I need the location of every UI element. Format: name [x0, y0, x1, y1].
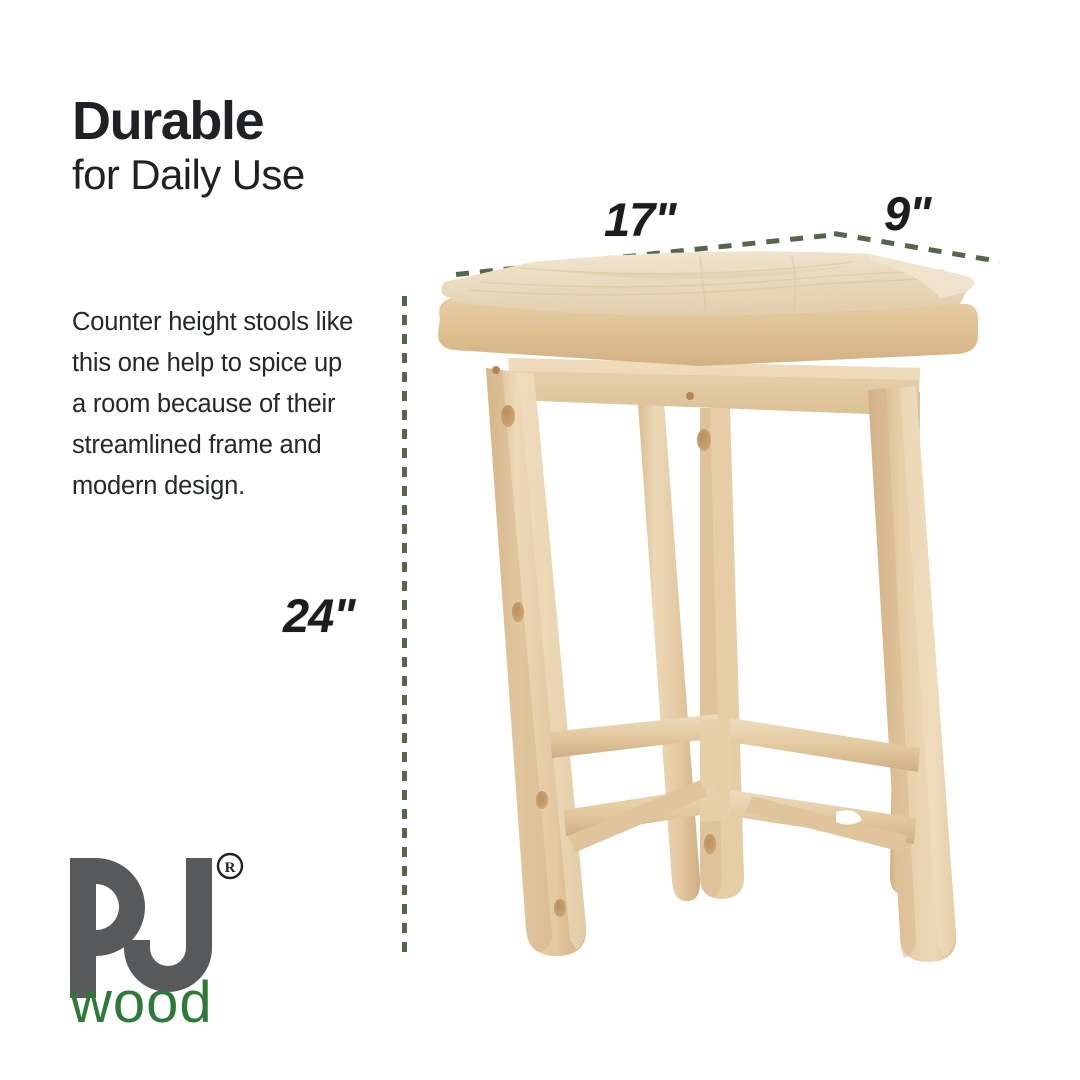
brand-logo: R wood	[62, 836, 292, 1026]
stool-front-left-leg	[486, 368, 586, 956]
headline-secondary: for Daily Use	[72, 151, 452, 198]
stool-center-rear-leg	[700, 408, 744, 899]
body-paragraph: Counter height stools like this one help…	[72, 302, 362, 507]
height-dimension-label: 24"	[283, 588, 355, 643]
product-image-stool	[400, 240, 1040, 1000]
stool-front-right-leg	[868, 386, 956, 962]
logo-wordmark-text: wood	[69, 970, 213, 1026]
width-dimension-label: 17"	[604, 192, 676, 247]
stool-apron	[508, 358, 920, 416]
headline-block: Durable for Daily Use	[72, 94, 452, 198]
depth-dimension-label: 9"	[884, 186, 930, 241]
registered-trademark-icon: R	[218, 854, 242, 878]
svg-text:R: R	[225, 860, 236, 876]
headline-primary: Durable	[72, 94, 452, 149]
stool-seat-top	[441, 251, 974, 316]
stool-stretcher-left-upper	[550, 714, 720, 758]
stool-stretcher-center-post	[700, 718, 730, 822]
infographic-canvas: Durable for Daily Use Counter height sto…	[0, 0, 1080, 1080]
